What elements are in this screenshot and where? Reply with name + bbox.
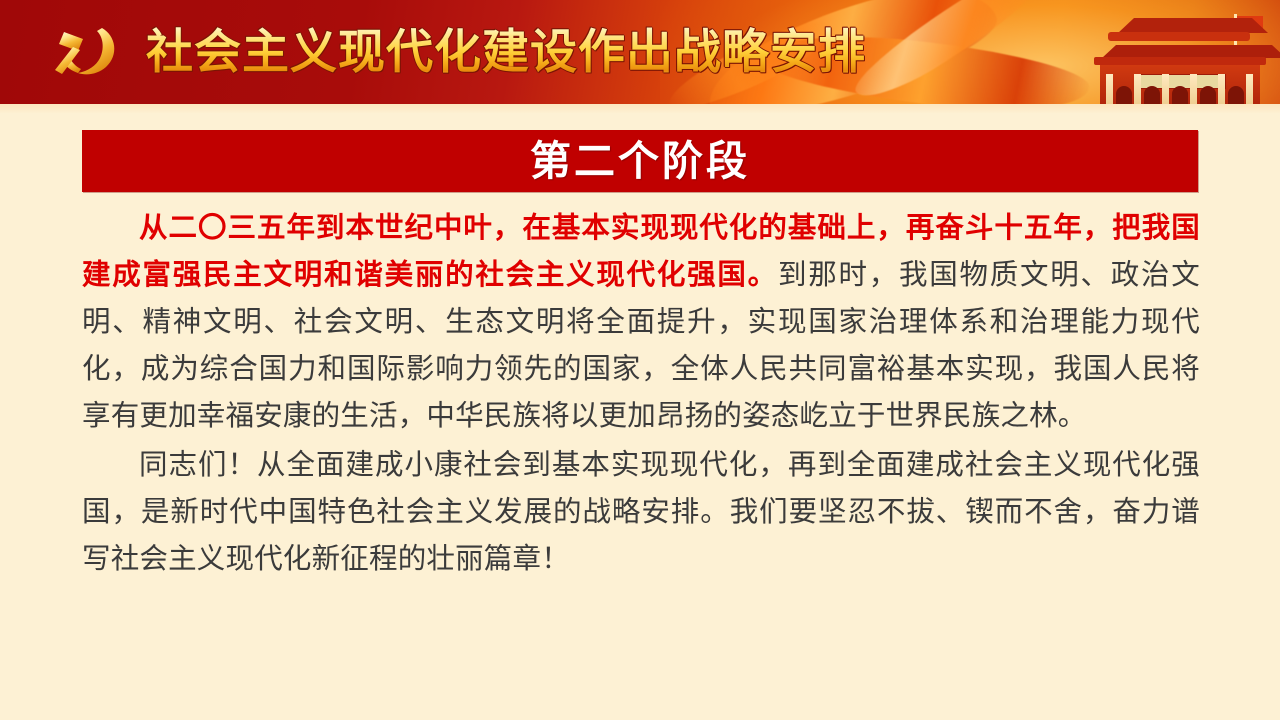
header-banner: 社会主义现代化建设作出战略安排 — [0, 0, 1280, 104]
header-divider — [0, 104, 1280, 113]
paragraph-2: 同志们！从全面建成小康社会到基本实现现代化，再到全面建成社会主义现代化强国，是新… — [82, 441, 1200, 582]
section-title-text: 第二个阶段 — [530, 139, 750, 183]
page-title: 社会主义现代化建设作出战略安排 — [146, 27, 866, 79]
silk-ribbon-icon — [844, 0, 1045, 104]
paragraph-1: 从二〇三五年到本世纪中叶，在基本实现现代化的基础上，再奋斗十五年，把我国建成富强… — [82, 204, 1200, 439]
content-area: 从二〇三五年到本世纪中叶，在基本实现现代化的基础上，再奋斗十五年，把我国建成富强… — [82, 204, 1200, 582]
section-title-bar: 第二个阶段 — [82, 130, 1198, 192]
slide: 社会主义现代化建设作出战略安排 第二个阶段 从二〇三五年到本世纪中叶，在基本实现… — [0, 0, 1280, 720]
hammer-sickle-party-emblem-icon — [42, 22, 128, 82]
tiananmen-gate-icon — [1084, 12, 1274, 104]
paragraph-2-text: 同志们！从全面建成小康社会到基本实现现代化，再到全面建成社会主义现代化强国，是新… — [82, 448, 1200, 575]
